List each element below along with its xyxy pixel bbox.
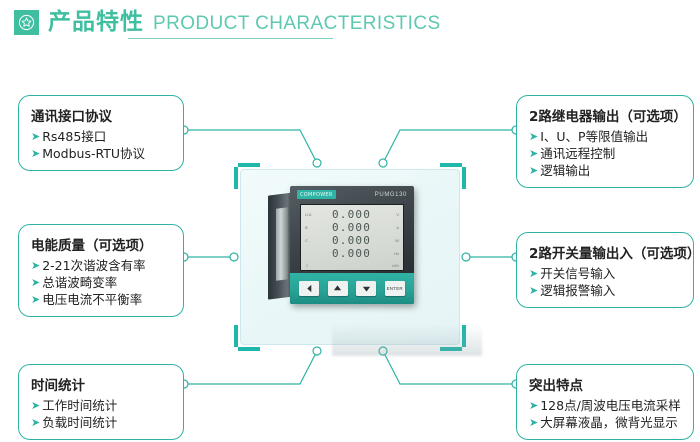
page-title-en: PRODUCT CHARACTERISTICS [153, 11, 441, 36]
callout-bullet: ➤ I、U、P等限值输出 [529, 128, 683, 145]
bullet-arrow-icon: ➤ [31, 274, 40, 291]
callout-bullet: ➤ 128点/周波电压电流采样 [529, 397, 683, 414]
callout-title: 2路继电器输出（可选项） [529, 105, 683, 125]
down-arrow-key[interactable] [356, 281, 376, 296]
callout-title: 电能质量（可选项） [31, 234, 173, 254]
bullet-arrow-icon: ➤ [529, 128, 538, 145]
bullet-arrow-icon: ➤ [31, 414, 40, 431]
bullet-arrow-icon: ➤ [31, 145, 40, 162]
device-brand-logo: COMPOWER [297, 190, 336, 199]
callout-bullet-label: 通讯远程控制 [540, 145, 615, 162]
callout-bullet-label: 电压电流不平衡率 [42, 291, 142, 308]
callout-bullet-label: I、U、P等限值输出 [540, 128, 648, 145]
device-lcd-screen: U A 0.000 V B 0.000 A C 0.000 W [300, 204, 404, 271]
callout-bullet-label: 负载时间统计 [42, 414, 117, 431]
callout-bullet: ➤ 逻辑输出 [529, 162, 683, 179]
lcd-footer-indicators: Σ kWh [306, 264, 399, 268]
callout-time-statistics[interactable]: 时间统计 ➤ 工作时间统计 ➤ 负载时间统计 [18, 364, 184, 440]
bullet-arrow-icon: ➤ [529, 397, 538, 414]
lcd-footer-left: Σ [306, 264, 308, 268]
lcd-row: 0.000 Hz [305, 247, 399, 260]
bullet-arrow-icon: ➤ [529, 282, 538, 299]
callout-bullet-label: Modbus-RTU协议 [42, 145, 145, 162]
callout-highlights[interactable]: 突出特点 ➤ 128点/周波电压电流采样 ➤ 大屏幕液晶，微背光显示 [516, 364, 694, 440]
callout-bullet-label: 大屏幕液晶，微背光显示 [540, 414, 678, 431]
callout-bullet-label: 工作时间统计 [42, 397, 117, 414]
device-model-label: PUMG130 [375, 192, 407, 198]
star-badge-icon [14, 10, 39, 35]
lcd-row-left-tag: B [305, 225, 317, 230]
bullet-arrow-icon: ➤ [529, 162, 538, 179]
bullet-arrow-icon: ➤ [529, 414, 538, 431]
product-image-frame: COMPOWER PUMG130 U A 0.000 V B 0.000 A [234, 163, 466, 351]
callout-comm-interface-protocol[interactable]: 通讯接口协议 ➤ Rs485接口 ➤ Modbus-RTU协议 [18, 95, 184, 171]
callout-title: 突出特点 [529, 374, 683, 394]
device-top-bar: COMPOWER PUMG130 [290, 186, 414, 203]
slide-canvas: 产品特性 PRODUCT CHARACTERISTICS [0, 0, 700, 442]
bullet-arrow-icon: ➤ [529, 145, 538, 162]
bullet-arrow-icon: ➤ [31, 291, 40, 308]
callout-title: 2路开关量输出入（可选项） [529, 242, 683, 262]
lcd-row: C 0.000 W [305, 234, 399, 247]
product-device: COMPOWER PUMG130 U A 0.000 V B 0.000 A [290, 186, 414, 304]
enter-key-label: ENTER [387, 286, 403, 291]
callout-bullet: ➤ Modbus-RTU协议 [31, 145, 173, 162]
lcd-row-value: 0.000 [317, 247, 386, 260]
bullet-arrow-icon: ➤ [31, 257, 40, 274]
callout-bullet-label: 逻辑报警输入 [540, 282, 615, 299]
callout-bullet-label: 2-21次谐波含有率 [42, 257, 145, 274]
callout-bullet-label: 逻辑输出 [540, 162, 590, 179]
lcd-row: U A 0.000 V [305, 208, 399, 221]
callout-bullet-label: Rs485接口 [42, 128, 106, 145]
device-front-body: COMPOWER PUMG130 U A 0.000 V B 0.000 A [290, 186, 414, 304]
callout-bullet: ➤ 大屏幕液晶，微背光显示 [529, 414, 683, 431]
lcd-row-value: 0.000 [317, 208, 386, 221]
lcd-row-right-unit: V [386, 212, 399, 217]
header-underline [128, 38, 333, 39]
callout-relay-output[interactable]: 2路继电器输出（可选项） ➤ I、U、P等限值输出 ➤ 通讯远程控制 ➤ 逻辑输… [516, 95, 694, 188]
frame-corner-top-right [440, 163, 466, 189]
lcd-row-right-unit: Hz [386, 251, 399, 256]
callout-bullet: ➤ 负载时间统计 [31, 414, 173, 431]
callout-bullet-label: 开关信号输入 [540, 265, 615, 282]
device-keypad: ENTER [290, 273, 414, 304]
device-reflection [332, 324, 482, 356]
callout-bullet: ➤ 通讯远程控制 [529, 145, 683, 162]
up-arrow-key[interactable] [328, 281, 348, 296]
left-arrow-key[interactable] [299, 281, 319, 296]
callout-power-quality[interactable]: 电能质量（可选项） ➤ 2-21次谐波含有率 ➤ 总谐波畸变率 ➤ 电压电流不平… [18, 224, 184, 317]
lcd-footer-right: kWh [392, 264, 399, 268]
lcd-row-right-unit: W [386, 238, 399, 243]
page-header: 产品特性 PRODUCT CHARACTERISTICS [14, 10, 441, 35]
callout-title: 通讯接口协议 [31, 105, 173, 125]
callout-digital-io[interactable]: 2路开关量输出入（可选项） ➤ 开关信号输入 ➤ 逻辑报警输入 [516, 232, 694, 308]
frame-corner-bottom-left [234, 325, 260, 351]
lcd-row-right-unit: A [386, 225, 399, 230]
callout-bullet-label: 128点/周波电压电流采样 [540, 397, 681, 414]
callout-bullet: ➤ 工作时间统计 [31, 397, 173, 414]
callout-bullet: ➤ 开关信号输入 [529, 265, 683, 282]
lcd-row-left-tag: U A [305, 212, 317, 217]
device-mounting-clip [276, 207, 288, 280]
lcd-row-value: 0.000 [317, 234, 386, 247]
bullet-arrow-icon: ➤ [529, 265, 538, 282]
callout-bullet: ➤ 总谐波畸变率 [31, 274, 173, 291]
enter-key[interactable]: ENTER [385, 281, 405, 296]
lcd-row-value: 0.000 [317, 221, 386, 234]
callout-bullet: ➤ 电压电流不平衡率 [31, 291, 173, 308]
lcd-row-left-tag: C [305, 238, 317, 243]
callout-bullet: ➤ 2-21次谐波含有率 [31, 257, 173, 274]
lcd-row: B 0.000 A [305, 221, 399, 234]
bullet-arrow-icon: ➤ [31, 397, 40, 414]
callout-bullet: ➤ 逻辑报警输入 [529, 282, 683, 299]
callout-title: 时间统计 [31, 374, 173, 394]
frame-corner-top-left [234, 163, 260, 189]
page-title-cn: 产品特性 [48, 10, 144, 35]
bullet-arrow-icon: ➤ [31, 128, 40, 145]
callout-bullet-label: 总谐波畸变率 [42, 274, 117, 291]
callout-bullet: ➤ Rs485接口 [31, 128, 173, 145]
